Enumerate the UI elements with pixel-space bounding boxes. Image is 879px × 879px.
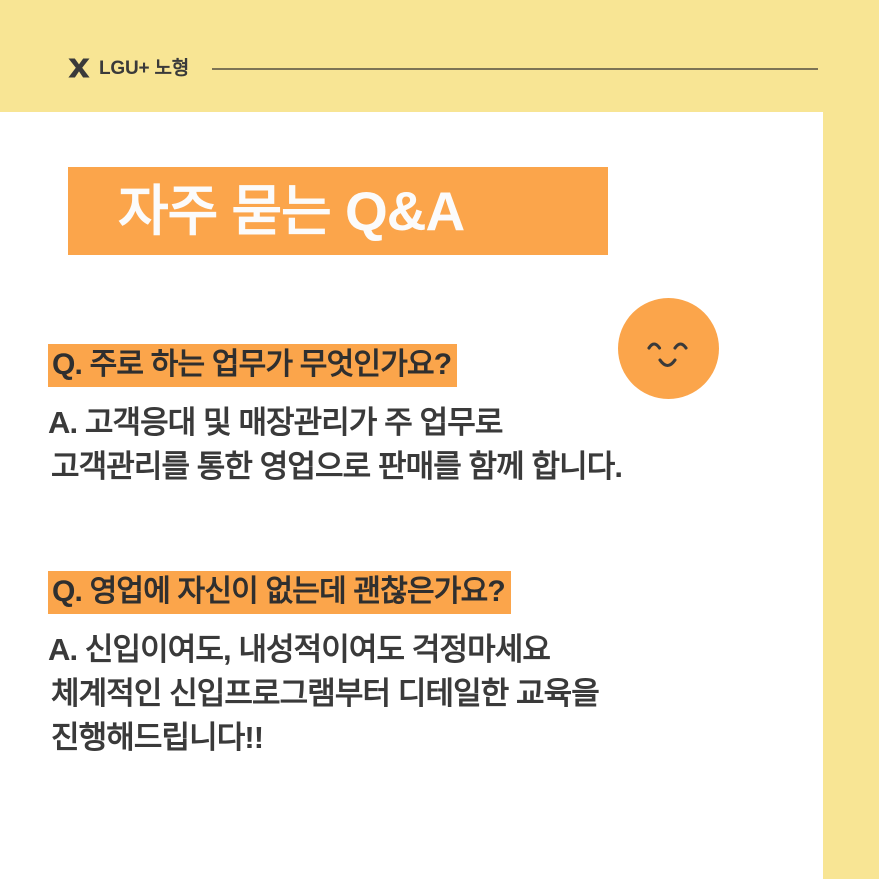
faq-answer-2-line-2: 체계적인 신입프로그램부터 디테일한 교육을 — [51, 672, 599, 716]
brand-lockup: LGU+ 노형 — [68, 56, 189, 80]
faq-answer-2: A. 신입이여도, 내성적이여도 걱정마세요 체계적인 신입프로그램부터 디테일… — [48, 628, 599, 760]
faq-question-2: Q. 영업에 자신이 없는데 괜찮은가요? — [48, 571, 511, 614]
brand-name: LGU+ 노형 — [99, 59, 189, 78]
faq-answer-2-line-3: 진행해드립니다!! — [51, 716, 599, 760]
faq-answer-1-line-1: A. 고객응대 및 매장관리가 주 업무로 — [48, 401, 622, 445]
faq-answer-1: A. 고객응대 및 매장관리가 주 업무로 고객관리를 통한 영업으로 판매를 … — [48, 401, 622, 489]
page-title-banner: 자주 묻는 Q&A — [68, 167, 608, 255]
faq-card: LGU+ 노형 자주 묻는 Q&A Q. 주로 하는 업무가 무엇인가요? A.… — [0, 0, 879, 879]
lgu-plus-x-logo-icon — [68, 58, 90, 78]
faq-item-1: Q. 주로 하는 업무가 무엇인가요? A. 고객응대 및 매장관리가 주 업무… — [48, 344, 622, 489]
faq-answer-2-line-1: A. 신입이여도, 내성적이여도 걱정마세요 — [48, 628, 599, 672]
faq-question-1: Q. 주로 하는 업무가 무엇인가요? — [48, 344, 457, 387]
faq-item-2: Q. 영업에 자신이 없는데 괜찮은가요? A. 신입이여도, 내성적이여도 걱… — [48, 571, 599, 760]
card-header: LGU+ 노형 — [0, 0, 879, 112]
smiley-features — [618, 298, 719, 399]
smiling-face-icon — [618, 298, 719, 399]
faq-answer-1-line-2: 고객관리를 통한 영업으로 판매를 함께 합니다. — [51, 445, 622, 489]
header-divider — [212, 68, 818, 70]
page-title: 자주 묻는 Q&A — [118, 184, 464, 239]
